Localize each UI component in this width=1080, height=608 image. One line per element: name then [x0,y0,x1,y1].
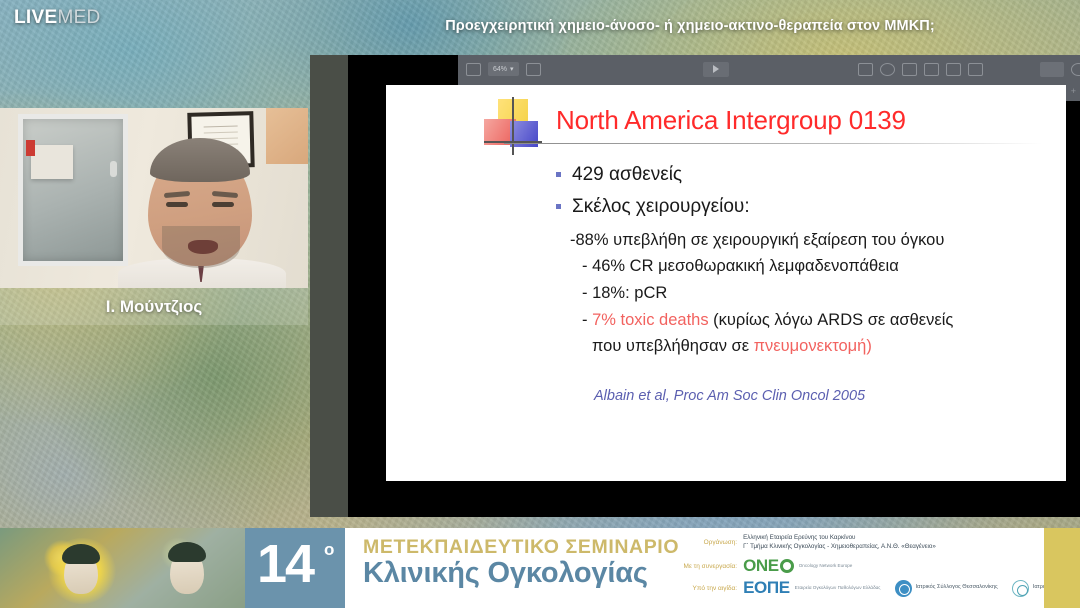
one-logo-text: ONE [743,556,779,576]
video-speaker-eye-right [212,202,234,207]
video-window [18,114,128,266]
sidebar-toggle-icon[interactable] [466,63,481,76]
slide-citation: Albain et al, Proc Am Soc Clin Oncol 200… [594,388,865,404]
toxic-deaths-emphasis: 7% toxic deaths [592,311,708,329]
organizer-row: Οργάνωση: Ελληνική Εταιρεία Ερεύνης του … [681,534,936,552]
brand-med-text: MED [57,7,100,28]
zoom-level-selector[interactable]: 64% ▾ [488,62,519,76]
eope-logo: ΕΟΠΕ [743,578,790,598]
toxic-mid-text: (κυρίως λόγω ARDS σε ασθενείς [709,311,954,329]
medical-association-icon [895,580,912,597]
shape-icon[interactable] [1071,63,1080,76]
one-logo-ring-icon [780,559,794,573]
edition-degree-symbol: ο [324,540,334,560]
image-icon[interactable] [946,63,961,76]
eope-logo-text: ΕΟΠΕ [743,578,790,598]
bullet-text: 429 ασθενείς [572,163,682,187]
video-red-object [26,140,35,156]
medical-association-text: Ιατρικός Σύλλογος Θεσσαλονίκης [916,584,998,592]
organizations-block: Οργάνωση: Ελληνική Εταιρεία Ερεύνης του … [679,528,1080,608]
auspices-row: Υπό την αιγίδα: ΕΟΠΕ Εταιρεία Ογκολόγων … [681,578,1080,598]
video-wall-map [266,108,308,164]
organizer-label: Οργάνωση: [681,539,743,546]
seminar-title-block: ΜΕΤΕΚΠΑΙΔΕΥΤΙΚΟ ΣΕΜΙΝΑΡΙΟ Κλινικής Ογκολ… [345,528,679,608]
slide-bullet-list: 429 ασθενείς Σκέλος χειρουργείου: -88% υ… [556,163,1056,360]
stamp-icon[interactable] [924,63,939,76]
organizer-line-1: Ελληνική Εταιρεία Ερεύνης του Καρκίνου [743,534,936,543]
collaboration-label: Με τη συνεργασία: [681,563,743,570]
present-play-icon[interactable] [703,62,729,77]
video-speaker-eye-left [166,202,188,207]
pdf-toolbar-right-group [1040,62,1080,77]
collaboration-row: Με τη συνεργασία: ONE Oncology Network E… [681,556,852,576]
crop-icon[interactable] [902,63,917,76]
event-banner: 14 ο ΜΕΤΕΚΠΑΙΔΕΥΤΙΚΟ ΣΕΜΙΝΑΡΙΟ Κλινικής … [0,528,1080,608]
edition-number-block: 14 ο [245,528,345,608]
edition-number: 14 [257,533,313,595]
sub-list-item: -88% υπεβλήθη σε χειρουργική εξαίρεση το… [570,227,1056,254]
sub-list-item: - 46% CR μεσοθωρακική λεμφαδενοπάθεια [570,253,1056,280]
slide-title: North America Intergroup 0139 [556,105,906,136]
slide-page: North America Intergroup 0139 429 ασθενε… [386,85,1066,481]
comment-icon[interactable] [968,63,983,76]
pdf-toolbar-present-group [703,62,729,77]
speaker-name-label: Ι. Μούντζιος [0,288,308,325]
banner-accent-strip [1044,528,1080,608]
sub-list-item: - 18%: pCR [570,280,1056,307]
list-item: 429 ασθενείς [556,163,1056,187]
organizer-text: Ελληνική Εταιρεία Ερεύνης του Καρκίνου Γ… [743,534,936,552]
bullet-marker-icon [556,204,561,209]
pdf-toolbar-tools-group [858,63,983,76]
pdf-letterbox-bottom [386,481,1080,517]
toxic-dash: - [582,311,592,329]
seminar-title-bottom: Κλινικής Ογκολογίας [363,557,679,590]
speaker-video-tile[interactable] [0,108,308,288]
seminar-title-top: ΜΕΤΕΚΠΑΙΔΕΥΤΙΚΟ ΣΕΜΙΝΑΡΙΟ [363,537,679,557]
banner-figure-hair-left [62,544,100,564]
top-bar: LIVEMED Προεγχειρητική χημειο-άνοσο- ή χ… [0,0,1080,52]
pdf-toolbar-left-group: 64% ▾ [466,62,541,76]
chevron-down-icon: ▾ [510,65,514,73]
shared-screen-inner: 64% ▾ [348,55,1080,517]
eope-logo-subtext: Εταιρεία Ογκολόγων Παθολόγων Ελλάδας [795,585,881,591]
clock-icon[interactable] [880,63,895,76]
zoom-level-value: 64% [493,66,507,73]
column-view-icon[interactable] [858,63,873,76]
one-logo-subtext: Oncology Network Europe [799,563,853,569]
bullet-text: Σκέλος χειρουργείου: [572,195,750,219]
logo-cross-vertical [512,97,514,155]
new-tab-icon[interactable]: + [1071,86,1076,96]
auspices-label: Υπό την αιγίδα: [681,585,743,592]
slide-title-rule [504,143,1042,144]
livemed-logo[interactable]: LIVEMED [14,7,101,29]
list-item: Σκέλος χειρουργείου: [556,195,1056,219]
bullet-marker-icon [556,172,561,177]
slide-decorative-logo [484,97,542,155]
fit-page-icon[interactable] [526,63,541,76]
one-logo: ONE [743,556,794,576]
brand-live-text: LIVE [14,7,57,28]
shared-screen-region[interactable]: 64% ▾ [310,55,1080,517]
medical-society-icon [1012,580,1029,597]
organizer-line-2: Γ΄ Τμήμα Κλινικής Ογκολογίας - Χημειοθερ… [743,543,936,552]
banner-content: 14 ο ΜΕΤΕΚΠΑΙΔΕΥΤΙΚΟ ΣΕΜΙΝΑΡΙΟ Κλινικής … [245,528,1080,608]
session-title: Προεγχειρητική χημειο-άνοσο- ή χημειο-ακ… [340,18,1040,34]
highlight-icon[interactable] [1040,62,1064,77]
pdf-toolbar[interactable]: 64% ▾ [458,55,1080,83]
banner-artwork [0,528,245,608]
sub-list-item-toxic-deaths: - 7% toxic deaths (κυρίως λόγω ARDS σε α… [570,307,1056,360]
pneumonectomy-emphasis: πνευμονεκτομή) [754,337,872,355]
toxic-cont-text: που υπεβλήθησαν σε [582,337,754,355]
banner-figure-hair-right [168,542,206,562]
livemed-stream-view: LIVEMED Προεγχειρητική χημειο-άνοσο- ή χ… [0,0,1080,608]
video-speaker-mouth [188,240,218,254]
slide-sub-list: -88% υπεβλήθη σε χειρουργική εξαίρεση το… [570,227,1056,361]
